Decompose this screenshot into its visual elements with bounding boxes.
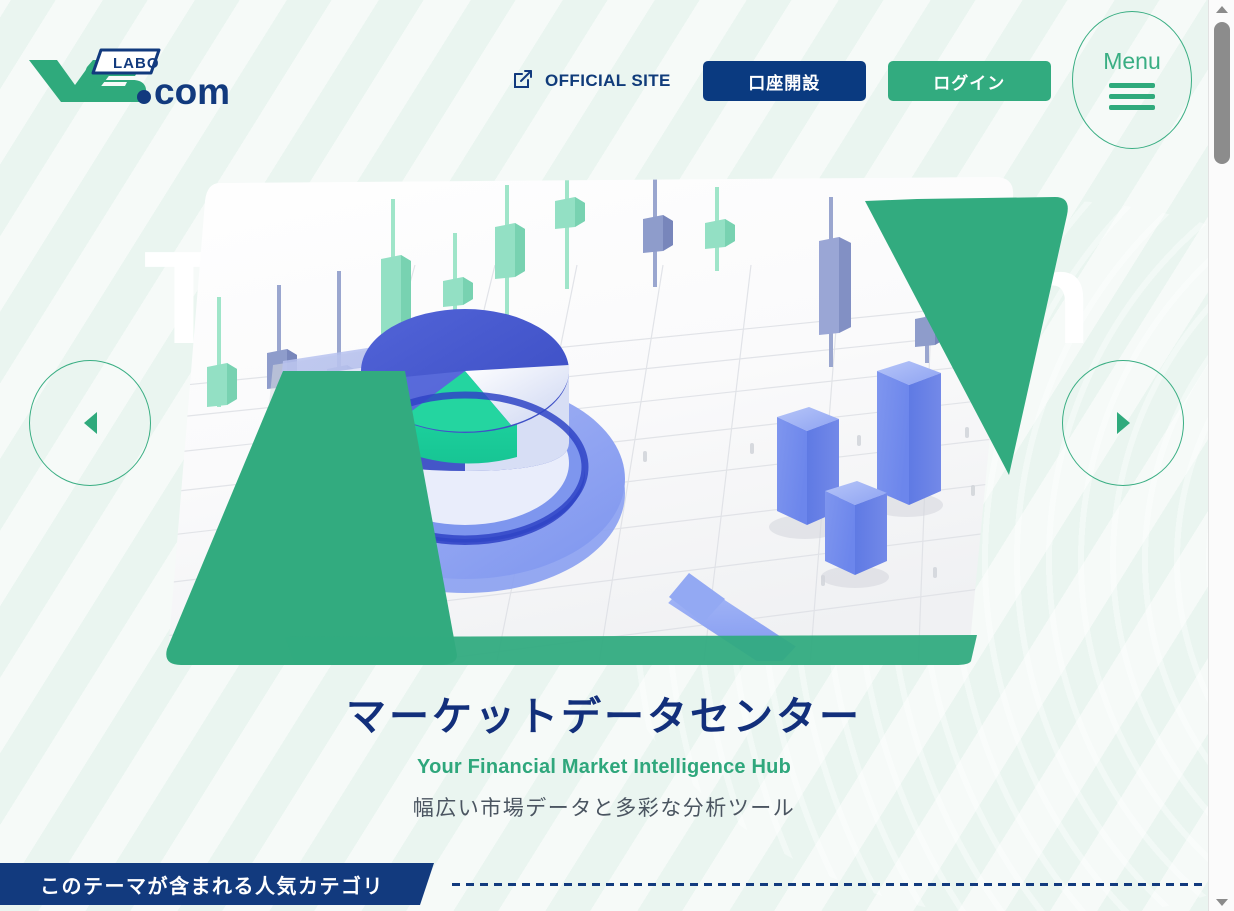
caret-down-icon [1216, 899, 1228, 906]
hamburger-icon [1109, 83, 1155, 110]
category-bar: このテーマが含まれる人気カテゴリ [0, 863, 1208, 911]
carousel-next-button[interactable] [1062, 360, 1184, 486]
svg-text:com: com [154, 71, 230, 112]
site-header: com LABO OFFICIAL SITE 口座開設 [0, 0, 1208, 160]
scroll-up-button[interactable] [1209, 0, 1234, 18]
green-base-strip [285, 635, 977, 665]
chevron-right-icon [1117, 412, 1130, 434]
official-site-link[interactable]: OFFICIAL SITE [512, 68, 671, 95]
svg-text:LABO: LABO [113, 55, 160, 72]
category-ribbon-label: このテーマが含まれる人気カテゴリ [40, 870, 384, 899]
scroll-down-button[interactable] [1209, 893, 1234, 911]
hero-illustration [165, 175, 1045, 665]
external-link-icon [512, 68, 534, 95]
page-root: Transformation com LABO [0, 0, 1234, 911]
page-title: マーケットデータセンター [0, 692, 1208, 742]
carousel-prev-button[interactable] [29, 360, 151, 486]
scrollbar-thumb[interactable] [1214, 22, 1230, 164]
caret-up-icon [1216, 6, 1228, 13]
header-nav-cluster: OFFICIAL SITE 口座開設 ログイン [512, 61, 1051, 101]
menu-button[interactable]: Menu [1072, 11, 1192, 149]
hero-captions: マーケットデータセンター Your Financial Market Intel… [0, 692, 1208, 822]
login-button[interactable]: ログイン [888, 61, 1051, 101]
logo-xscom[interactable]: com LABO [27, 47, 242, 113]
category-ribbon[interactable]: このテーマが含まれる人気カテゴリ [0, 863, 434, 905]
menu-label: Menu [1103, 50, 1161, 73]
hero-description: 幅広い市場データと多彩な分析ツール [0, 792, 1208, 822]
open-account-button[interactable]: 口座開設 [703, 61, 866, 101]
chevron-left-icon [84, 412, 97, 434]
category-dashed-line [452, 883, 1208, 886]
vertical-scrollbar[interactable] [1208, 0, 1234, 911]
hero-subtitle: Your Financial Market Intelligence Hub [0, 756, 1208, 779]
official-site-label: OFFICIAL SITE [545, 71, 671, 91]
